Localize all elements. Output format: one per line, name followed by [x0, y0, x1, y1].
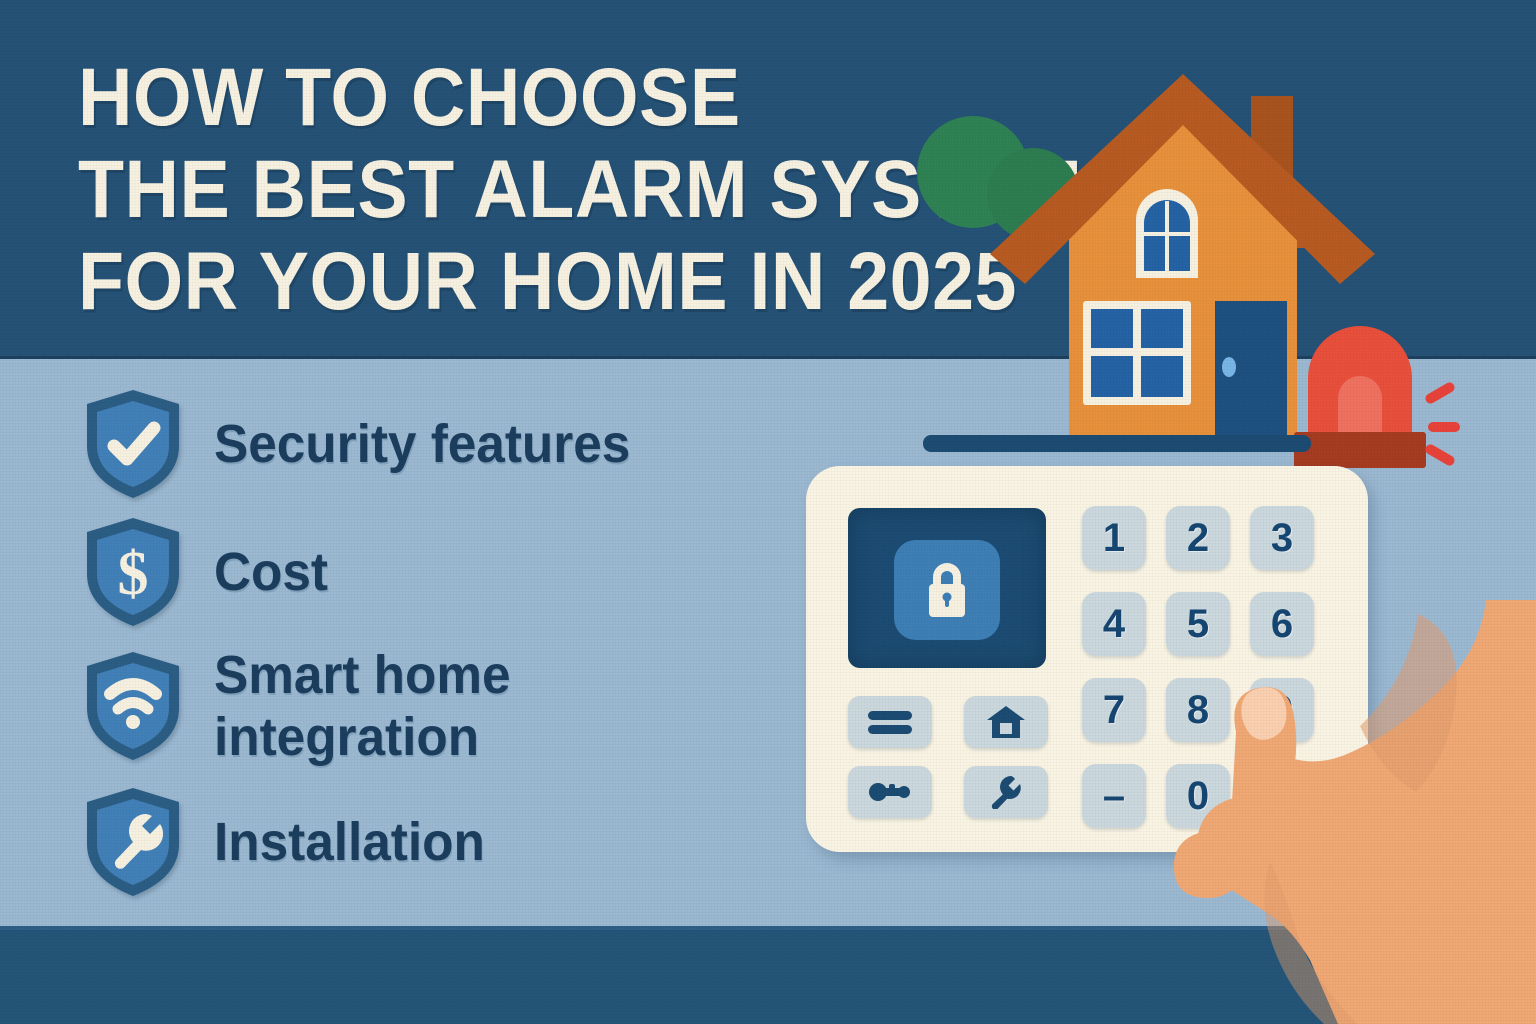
- shield-wrench-icon: [84, 786, 182, 898]
- feature-label: Cost: [214, 541, 328, 603]
- num-key-2[interactable]: 2: [1166, 506, 1230, 570]
- wrench-button[interactable]: [964, 766, 1048, 818]
- home-icon: [986, 705, 1026, 739]
- alarm-keypad[interactable]: 1 2 3 4 5 6 7 8 9 – 0: [806, 466, 1368, 852]
- num-key-4[interactable]: 4: [1082, 592, 1146, 656]
- house-scene-illustration: [915, 60, 1536, 480]
- attic-window: [1136, 189, 1198, 278]
- feature-label: Security features: [214, 413, 630, 475]
- page-title: HOW TO CHOOSE THE BEST ALARM SYSTEM FOR …: [78, 52, 1058, 328]
- svg-text:$: $: [118, 540, 149, 608]
- num-key-9[interactable]: 9: [1250, 678, 1314, 742]
- siren-rays: [1424, 381, 1460, 468]
- shield-check-icon: [84, 388, 182, 500]
- menu-icon: [868, 709, 912, 735]
- alarm-siren-icon: [1294, 326, 1460, 468]
- door-handle: [1222, 357, 1236, 377]
- title-line-1: HOW TO CHOOSE: [78, 52, 980, 144]
- feature-label: Smart home integration: [214, 644, 623, 768]
- num-key-1[interactable]: 1: [1082, 506, 1146, 570]
- feature-item-cost: $ Cost: [84, 516, 744, 628]
- num-key-extra[interactable]: [1250, 764, 1314, 828]
- feature-item-installation: Installation: [84, 786, 744, 898]
- shield-wifi-icon: [84, 650, 182, 762]
- main-window: [1083, 301, 1191, 405]
- background-band-bottom: [0, 930, 1536, 1024]
- keypad-display: [848, 508, 1046, 668]
- num-key-dash[interactable]: –: [1082, 764, 1146, 828]
- wrench-icon: [989, 775, 1023, 809]
- title-line-2: THE BEST ALARM SYSTEM: [78, 144, 980, 236]
- feature-label: Installation: [214, 811, 485, 873]
- feature-item-smart-home-integration: Smart home integration: [84, 644, 744, 768]
- infographic-canvas: HOW TO CHOOSE THE BEST ALARM SYSTEM FOR …: [0, 0, 1536, 1024]
- lock-icon: [894, 540, 1000, 640]
- key-icon: [869, 782, 911, 802]
- num-key-8[interactable]: 8: [1166, 678, 1230, 742]
- num-key-0[interactable]: 0: [1166, 764, 1230, 828]
- ground-bar: [923, 435, 1311, 452]
- num-key-6[interactable]: 6: [1250, 592, 1314, 656]
- shield-dollar-icon: $: [84, 516, 182, 628]
- num-key-7[interactable]: 7: [1082, 678, 1146, 742]
- feature-item-security-features: Security features: [84, 388, 744, 500]
- home-button[interactable]: [964, 696, 1048, 748]
- num-key-5[interactable]: 5: [1166, 592, 1230, 656]
- menu-button[interactable]: [848, 696, 932, 748]
- num-key-3[interactable]: 3: [1250, 506, 1314, 570]
- front-door: [1215, 301, 1287, 440]
- numeric-keypad[interactable]: 1 2 3 4 5 6 7 8 9 – 0: [1082, 506, 1338, 830]
- key-button[interactable]: [848, 766, 932, 818]
- title-line-3: FOR YOUR HOME IN 2025: [78, 236, 980, 328]
